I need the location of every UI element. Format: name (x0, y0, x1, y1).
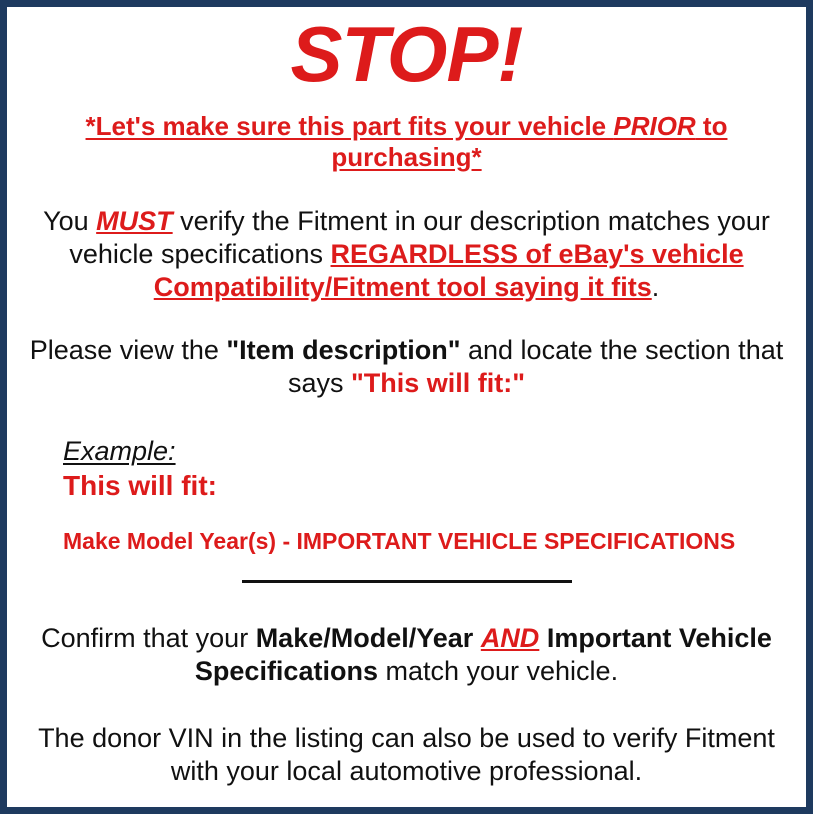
emphasis-and: AND (481, 623, 540, 653)
desc-run-lead: Please view the (30, 335, 227, 365)
paragraph-must-verify: You MUST verify the Fitment in our descr… (17, 205, 796, 304)
notice-content: STOP! *Let's make sure this part fits yo… (7, 7, 806, 807)
closing-thank-you: Thank you for confirming Fitment! (17, 808, 796, 814)
confirm-run-lead: Confirm that your (41, 623, 256, 653)
divider (17, 580, 796, 592)
subheadline: *Let's make sure this part fits your veh… (17, 111, 796, 173)
subheadline-emphasis: PRIOR (613, 111, 695, 141)
subheadline-prefix: *Let's make sure this part fits your veh… (86, 111, 614, 141)
emphasis-item-description: "Item description" (226, 335, 460, 365)
paragraph-confirm: Confirm that your Make/Model/Year AND Im… (17, 622, 796, 688)
paragraph-donor-vin: The donor VIN in the listing can also be… (17, 722, 796, 788)
example-spec-line: Make Model Year(s) - IMPORTANT VEHICLE S… (63, 528, 796, 554)
emphasis-make-model-year: Make/Model/Year (256, 623, 474, 653)
example-fit-heading: This will fit: (63, 470, 796, 502)
confirm-space-2 (539, 623, 547, 653)
emphasis-this-will-fit: "This will fit:" (351, 368, 525, 398)
fitment-notice-card: STOP! *Let's make sure this part fits yo… (0, 0, 813, 814)
page-title: STOP! (17, 7, 796, 95)
confirm-run-tail: match your vehicle. (378, 656, 618, 686)
example-label: Example: (63, 436, 796, 467)
paragraph-item-description: Please view the "Item description" and l… (17, 334, 796, 400)
confirm-space-1 (473, 623, 481, 653)
horizontal-rule-icon (242, 580, 572, 583)
must-run-lead: You (43, 206, 96, 236)
emphasis-must: MUST (96, 206, 173, 236)
example-block: Example: This will fit: Make Model Year(… (17, 436, 796, 555)
must-run-period: . (652, 272, 660, 302)
